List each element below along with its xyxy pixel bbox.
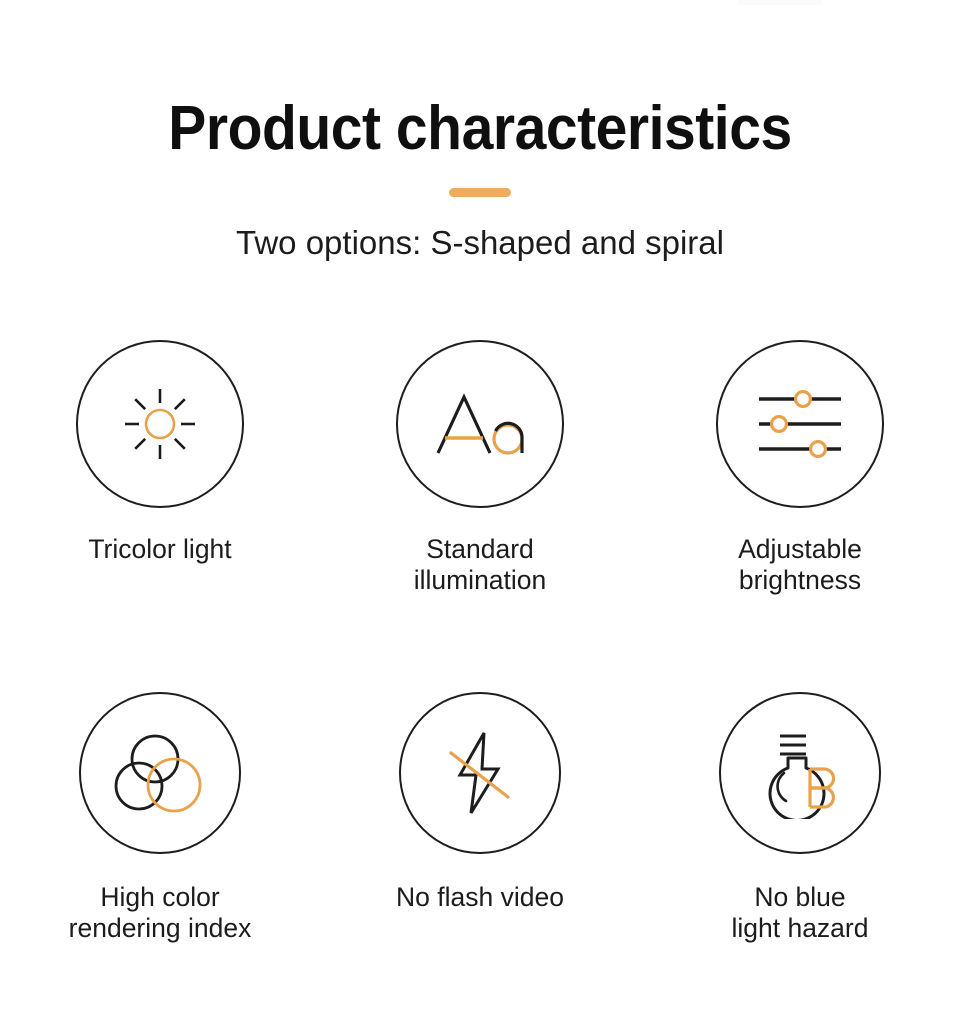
- icon-circle: [399, 692, 561, 854]
- feature-grid: Tricolor light Stand: [0, 340, 960, 944]
- lightning-bolt-slashed-icon: [438, 727, 522, 819]
- feature-item-adjustable-brightness: Adjustable brightness: [640, 340, 960, 596]
- top-edge-artifact: [738, 0, 822, 5]
- feature-label: Tricolor light: [88, 534, 231, 565]
- icon-circle: [719, 692, 881, 854]
- feature-item-no-flash-video: No flash video: [320, 692, 640, 944]
- sun-brightness-icon: [117, 381, 203, 467]
- product-characteristics-page: Product characteristics Two options: S-s…: [0, 0, 960, 1024]
- feature-label: High color rendering index: [69, 882, 252, 944]
- accent-bar: [449, 188, 511, 197]
- page-subtitle: Two options: S-shaped and spiral: [0, 222, 960, 264]
- feature-item-standard-illumination: Standard illumination: [320, 340, 640, 596]
- feature-item-tricolor-light: Tricolor light: [0, 340, 320, 596]
- feature-label: Adjustable brightness: [738, 534, 862, 596]
- page-header: Product characteristics Two options: S-s…: [0, 92, 960, 264]
- page-title: Product characteristics: [38, 92, 921, 166]
- icon-circle: [396, 340, 564, 508]
- icon-circle: [76, 340, 244, 508]
- feature-label: No flash video: [396, 882, 564, 913]
- sliders-adjust-icon: [755, 387, 845, 461]
- icon-circle: [79, 692, 241, 854]
- aa-typeface-icon: [428, 381, 532, 467]
- feature-label: Standard illumination: [414, 534, 547, 596]
- light-bulb-b-icon: [754, 727, 846, 819]
- overlapping-circles-color-icon: [111, 730, 209, 816]
- feature-label: No blue light hazard: [731, 882, 868, 944]
- feature-item-high-color-rendering-index: High color rendering index: [0, 692, 320, 944]
- feature-item-no-blue-light-hazard: No blue light hazard: [640, 692, 960, 944]
- accent-divider: [0, 188, 960, 197]
- icon-circle: [716, 340, 884, 508]
